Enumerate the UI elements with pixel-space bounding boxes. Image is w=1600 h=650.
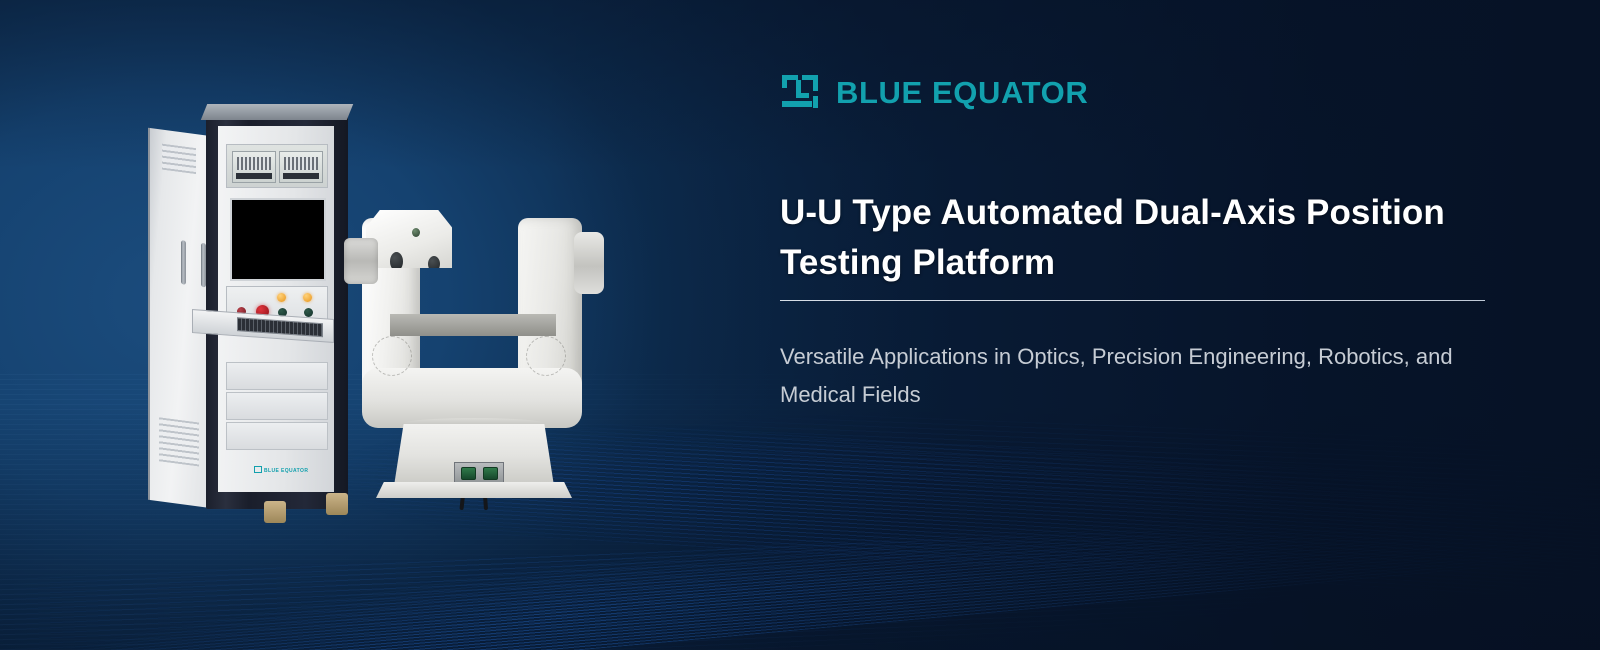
blue-equator-logo-icon [780,72,820,112]
title-divider [780,300,1485,301]
connector-port [483,467,498,480]
indicator-lamp-orange [277,293,286,302]
connector-port [461,467,476,480]
cabinet-drawer [226,422,328,450]
positioner-head [366,210,452,268]
hero-banner: BLUE EQUATOR [0,0,1600,650]
positioner-port-small [412,228,420,237]
instrument-grille-icon [237,157,271,170]
page-subtitle: Versatile Applications in Optics, Precis… [780,338,1500,414]
cabinet-leveling-foot [326,493,348,515]
instrument-rack [226,144,328,188]
brand-lockup: BLUE EQUATOR [780,72,1088,112]
cabinet-top-cap [201,104,353,120]
indicator-lamp-orange [303,293,312,302]
keyboard-icon [237,317,323,337]
cabinet-vent-top [162,144,196,174]
push-button-green [304,308,313,317]
positioner-bearing-circle [526,336,566,376]
cabinet-logo-text: BLUE EQUATOR [264,468,308,474]
cabinet-door-handle [181,240,186,285]
positioner-base-plate [376,482,572,498]
cabinet-drawer [226,362,328,390]
cabinet-frame: BLUE EQUATOR [206,114,348,509]
page-title: U-U Type Automated Dual-Axis Position Te… [780,188,1460,287]
hero-content: BLUE EQUATOR U-U Type Automated Dual-Axi… [780,0,1540,650]
control-cabinet: BLUE EQUATOR [148,114,348,519]
cabinet-drawer [226,392,328,420]
cabinet-brand-logo: BLUE EQUATOR [254,466,312,474]
instrument-strip [283,173,319,179]
cabinet-display-screen [230,198,326,281]
dual-axis-positioner [350,218,600,518]
instrument-module [279,151,323,183]
positioner-cross-arm [390,314,556,336]
cabinet-leveling-foot [264,501,286,523]
cabinet-logo-icon [254,466,262,473]
positioner-bearing-circle [372,336,412,376]
positioner-drive-drum [344,238,378,284]
brand-name: BLUE EQUATOR [836,77,1088,108]
instrument-module [232,151,276,183]
positioner-port [428,256,440,272]
instrument-strip [236,173,272,179]
positioner-port [390,252,403,271]
positioner-drive-drum [574,232,604,294]
instrument-grille-icon [284,157,318,170]
product-photo: BLUE EQUATOR [0,0,660,650]
cabinet-front-face: BLUE EQUATOR [218,126,334,492]
cabinet-vent-bottom [159,417,199,466]
